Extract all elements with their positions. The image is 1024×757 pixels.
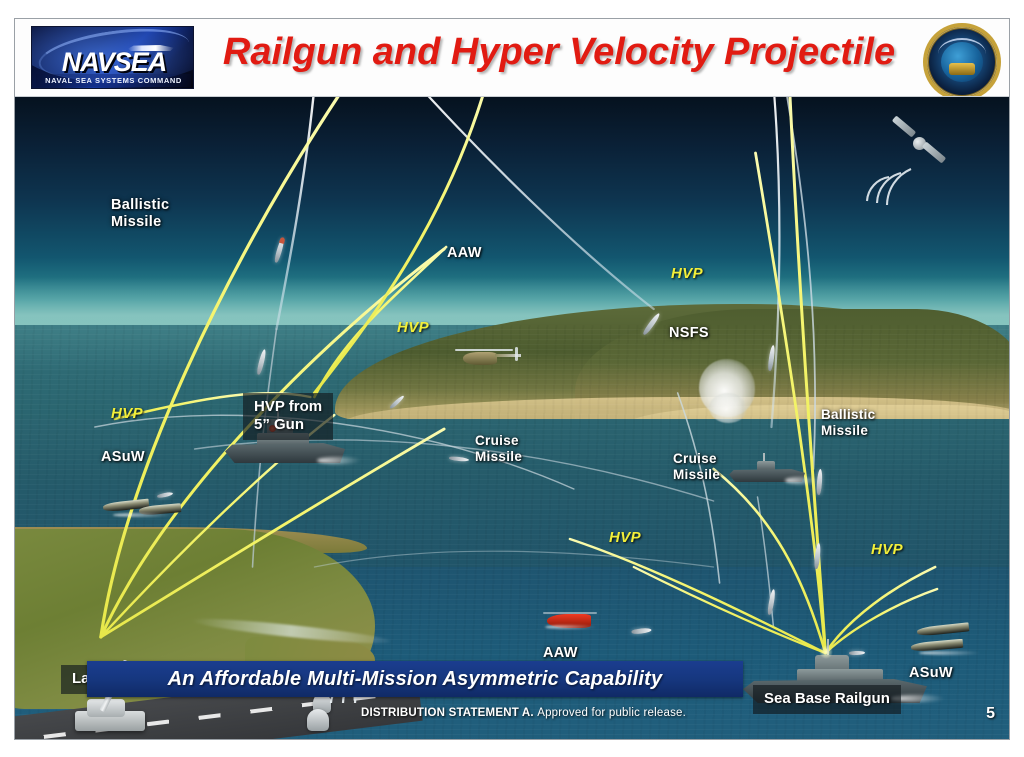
label-asuw-right: ASuW [909,665,953,682]
label-hvp-aaw-sea: HVP [609,529,641,546]
distribution-statement-bold: DISTRIBUTION STATEMENT A. [361,707,534,719]
aaw-helicopter-icon [453,343,527,371]
label-ballistic-missile-left: Ballistic Missile [111,197,169,231]
asuw-craft-group-left [103,497,193,523]
satellite-panel-left [892,115,916,137]
label-hvp-asuw-right: HVP [871,541,903,558]
label-aaw-sea: AAW [543,645,578,662]
aaw-aircraft-icon [543,609,605,633]
slide-header: NAVSEA NAVAL SEA SYSTEMS COMMAND Railgun… [15,19,1009,97]
asuw-boat-right-1 [917,622,970,636]
label-cruise-missile-left: Cruise Missile [475,433,522,465]
frigate-midfield [727,453,811,487]
callout-sea-base-railgun: Sea Base Railgun [753,685,901,714]
asuw-boat-wake-left [113,513,173,517]
slide: NAVSEA NAVAL SEA SYSTEMS COMMAND Railgun… [0,0,1024,757]
navsea-logo: NAVSEA NAVAL SEA SYSTEMS COMMAND [31,26,194,89]
label-nsfs: NSFS [669,325,709,342]
label-cruise-missile-right: Cruise Missile [673,451,720,483]
helicopter-fuselage [463,352,497,365]
distribution-statement-normal: Approved for public release. [537,707,686,719]
aaw-aircraft-rotor [543,612,597,614]
navsea-wordmark: NAVSEA [40,49,188,76]
label-ballistic-missile-right: Ballistic Missile [821,407,875,439]
distribution-statement: DISTRIBUTION STATEMENT A. Approved for p… [361,707,686,719]
aaw-aircraft-spray [545,625,597,629]
frigate-wake [785,477,819,484]
navsea-subtitle: NAVAL SEA SYSTEMS COMMAND [36,76,191,85]
seal-ring [927,27,997,97]
naval-warfare-seal-icon [923,23,1001,97]
tagline-text: An Affordable Multi-Mission Asymmetric C… [168,668,663,691]
scene-illustration: Ballistic Missile AAW NSFS ASuW Cruise M… [15,97,1009,740]
sbr-muzzle-flash [819,645,833,659]
satellite-panel-right [922,141,946,163]
helicopter-main-rotor [455,349,513,351]
callout-hvp-from-5in-gun: HVP from 5” Gun [243,393,333,440]
nsfs-impact-smoke [709,393,747,423]
ship-wake [317,457,361,464]
label-asuw-left: ASuW [101,449,145,466]
label-aaw-air: AAW [447,245,482,262]
label-hvp-nsfs: HVP [671,265,703,282]
page-number: 5 [986,705,995,723]
page-title: Railgun and Hyper Velocity Projectile [201,33,917,73]
helicopter-tail-rotor [515,347,518,361]
slide-frame: NAVSEA NAVAL SEA SYSTEMS COMMAND Railgun… [14,18,1010,740]
label-hvp-center: HVP [397,319,429,336]
satellite-signal-arcs [849,141,919,211]
tagline-banner: An Affordable Multi-Mission Asymmetric C… [87,661,743,697]
label-hvp-left: HVP [111,405,143,422]
